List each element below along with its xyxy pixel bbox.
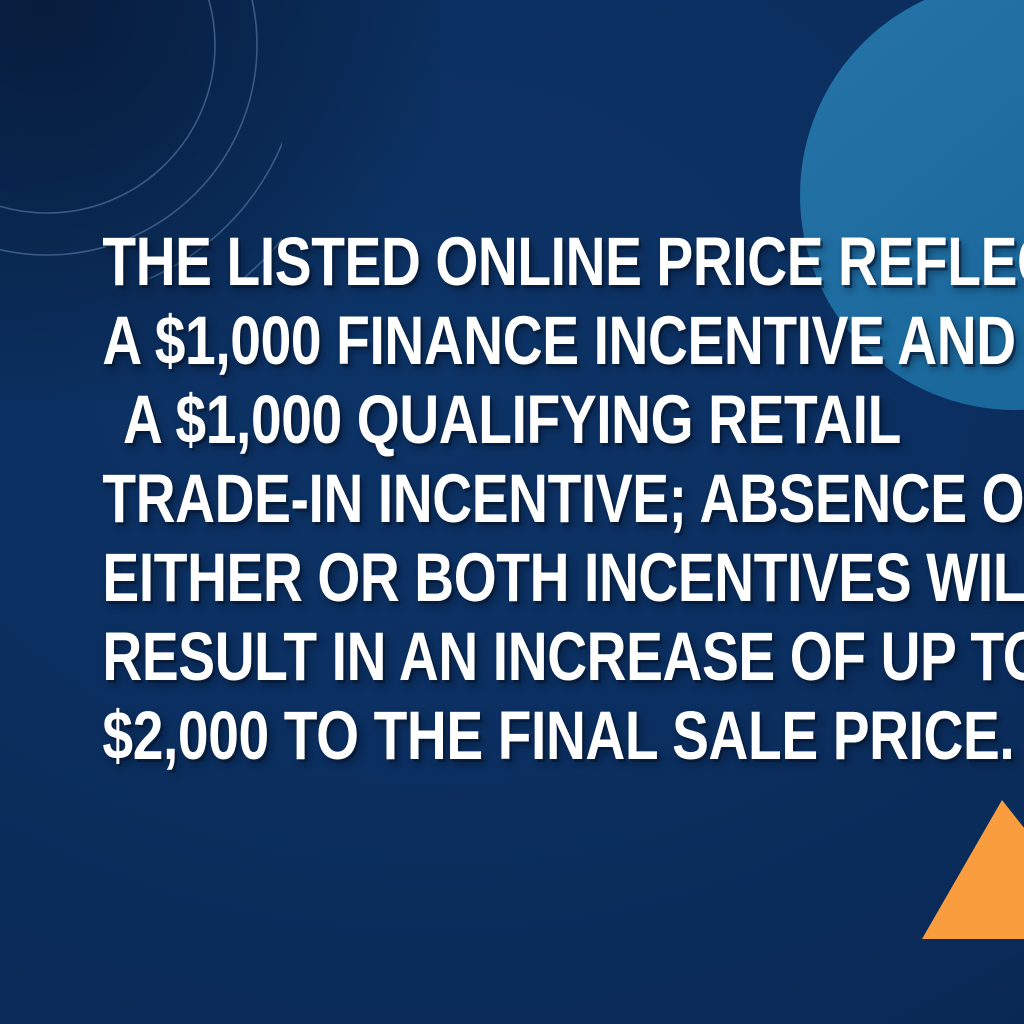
promo-disclaimer-banner: THE LISTED ONLINE PRICE REFLECTS A $1,00…	[0, 0, 1024, 1024]
